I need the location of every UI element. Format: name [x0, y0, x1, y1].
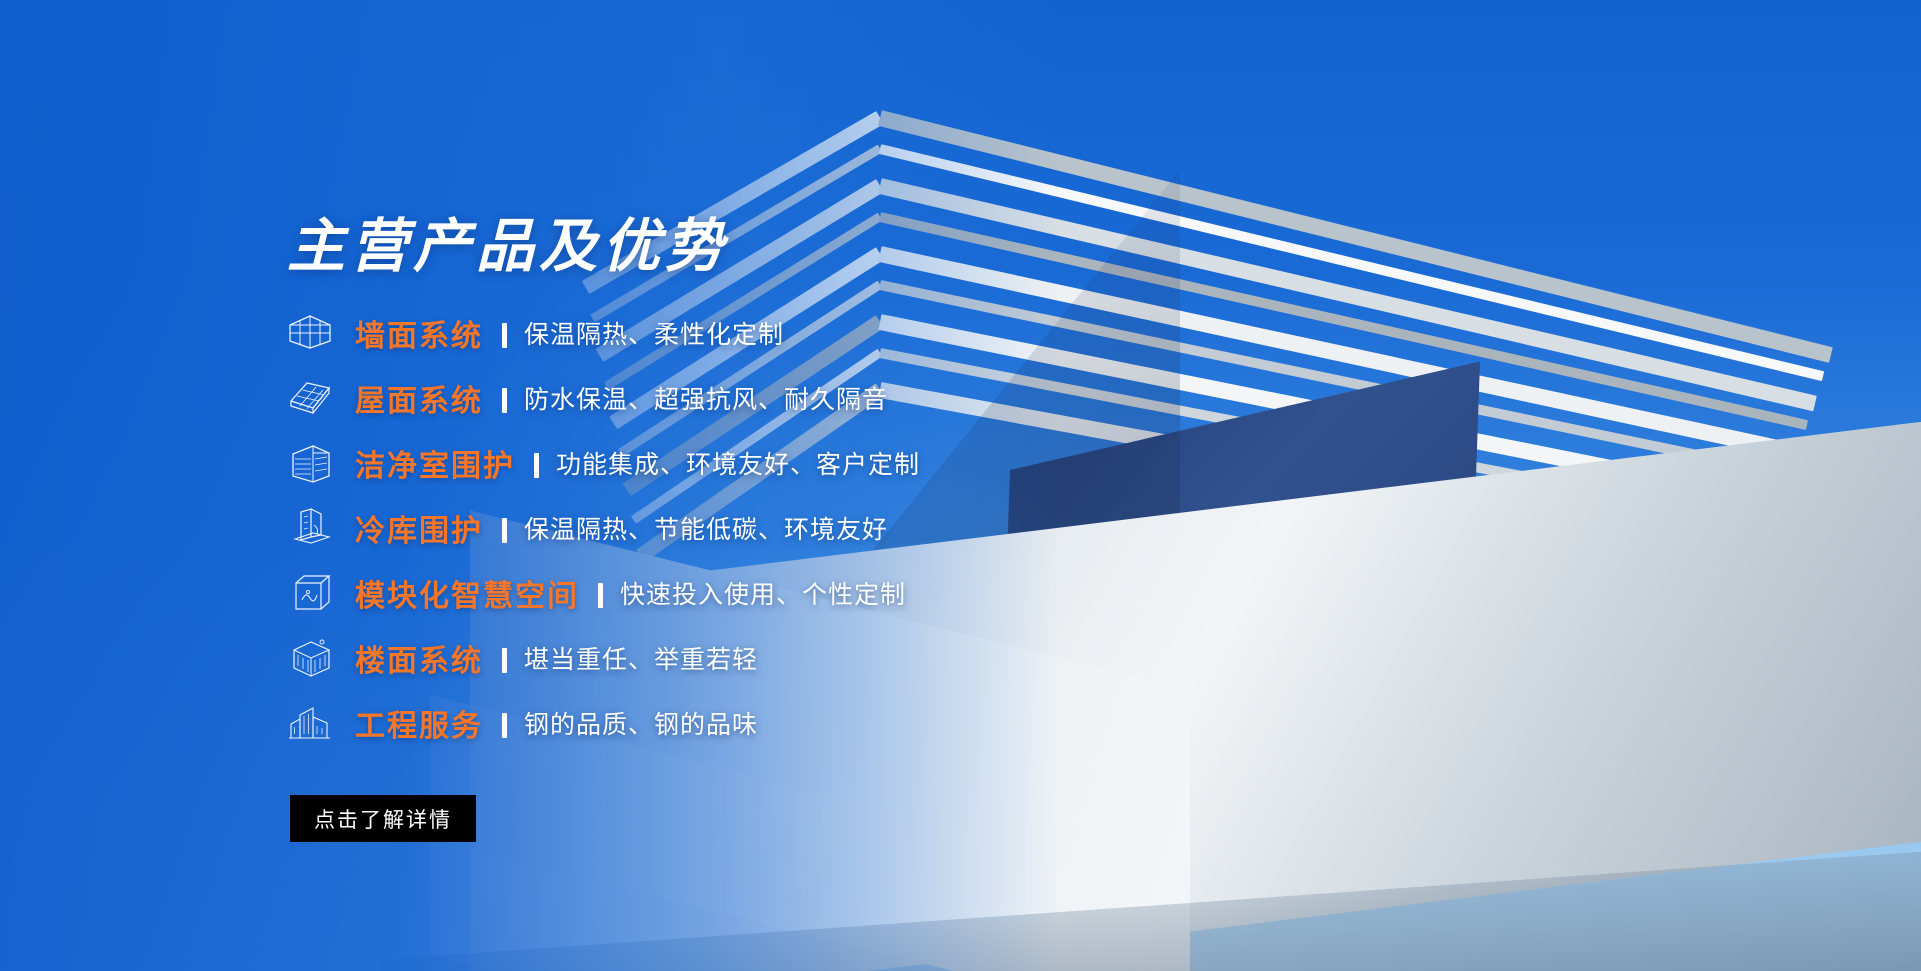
- wall-system-icon: [287, 310, 333, 356]
- product-category: 洁净室围护: [355, 441, 515, 485]
- separator-bar: [502, 388, 507, 413]
- learn-more-button[interactable]: 点击了解详情: [290, 795, 476, 842]
- product-description: 功能集成、环境友好、客户定制: [556, 445, 920, 481]
- product-row[interactable]: 洁净室围护功能集成、环境友好、客户定制: [287, 430, 1107, 495]
- product-description: 堪当重任、举重若轻: [524, 640, 758, 676]
- product-row[interactable]: 墙面系统保温隔热、柔性化定制: [287, 300, 1107, 365]
- product-category: 墙面系统: [355, 311, 483, 355]
- product-description: 钢的品质、钢的品味: [524, 705, 758, 741]
- roof-system-icon: [287, 375, 333, 421]
- cold-storage-enclosure-icon: [287, 505, 333, 551]
- product-row[interactable]: 冷库围护保温隔热、节能低碳、环境友好: [287, 495, 1107, 560]
- separator-bar: [502, 713, 507, 738]
- product-description: 保温隔热、节能低碳、环境友好: [524, 510, 888, 546]
- product-description: 防水保温、超强抗风、耐久隔音: [524, 380, 888, 416]
- promo-banner: 主营产品及优势 墙面系统保温隔热、柔性化定制屋面系统防水保温、超强抗风、耐久隔音…: [0, 0, 1921, 971]
- product-category: 冷库围护: [355, 506, 483, 550]
- product-category: 工程服务: [355, 701, 483, 745]
- banner-content: 主营产品及优势 墙面系统保温隔热、柔性化定制屋面系统防水保温、超强抗风、耐久隔音…: [0, 0, 1100, 971]
- product-description: 快速投入使用、个性定制: [620, 575, 906, 611]
- engineering-service-icon: [287, 700, 333, 746]
- product-row[interactable]: 模块化智慧空间快速投入使用、个性定制: [287, 560, 1107, 625]
- modular-smart-space-icon: [287, 570, 333, 616]
- product-description: 保温隔热、柔性化定制: [524, 315, 784, 351]
- separator-bar: [502, 518, 507, 543]
- separator-bar: [502, 323, 507, 348]
- product-category: 屋面系统: [355, 376, 483, 420]
- product-category: 楼面系统: [355, 636, 483, 680]
- product-row[interactable]: 楼面系统堪当重任、举重若轻: [287, 625, 1107, 690]
- separator-bar: [502, 648, 507, 673]
- separator-bar: [534, 453, 539, 478]
- product-row[interactable]: 屋面系统防水保温、超强抗风、耐久隔音: [287, 365, 1107, 430]
- product-category: 模块化智慧空间: [355, 571, 579, 615]
- page-title: 主营产品及优势: [287, 199, 728, 283]
- product-list: 墙面系统保温隔热、柔性化定制屋面系统防水保温、超强抗风、耐久隔音洁净室围护功能集…: [287, 300, 1107, 755]
- separator-bar: [598, 583, 603, 608]
- cleanroom-enclosure-icon: [287, 440, 333, 486]
- floor-system-icon: [287, 635, 333, 681]
- product-row[interactable]: 工程服务钢的品质、钢的品味: [287, 690, 1107, 755]
